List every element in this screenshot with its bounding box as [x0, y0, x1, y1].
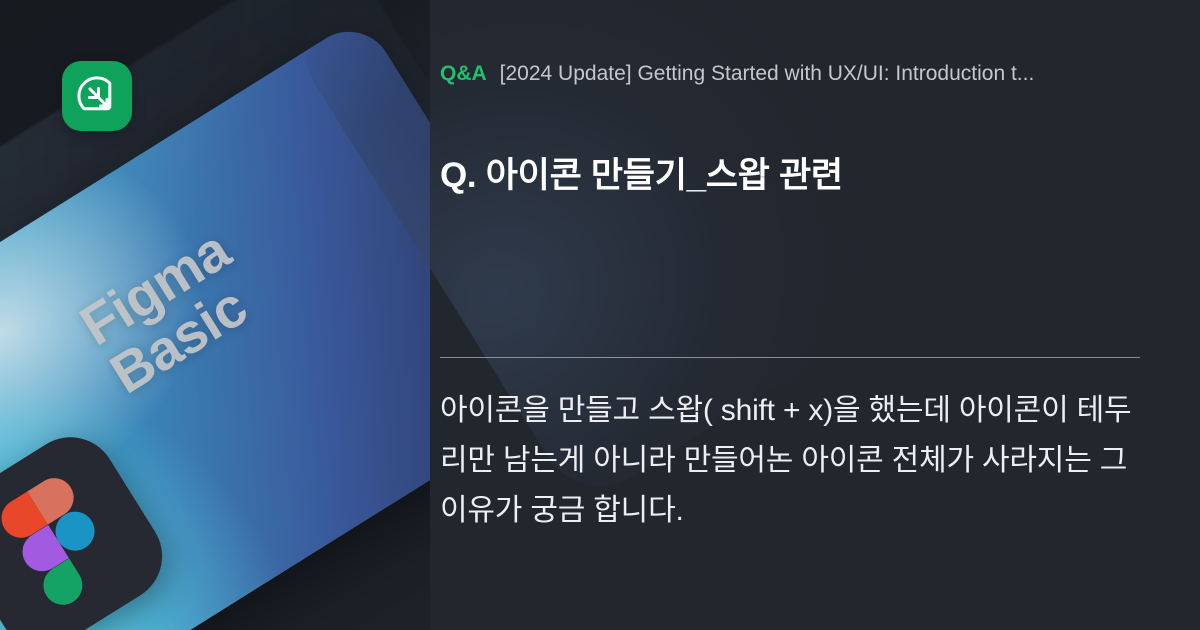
- leaf-pin-icon: [76, 75, 118, 117]
- page-title: Q. 아이콘 만들기_스왑 관련: [440, 147, 1140, 198]
- site-logo[interactable]: [62, 61, 132, 131]
- breadcrumb: Q&A [2024 Update] Getting Started with U…: [440, 62, 1140, 86]
- question-body: 아이콘을 만들고 스왑( shift + x)을 했는데 아이콘이 테두리만 남…: [440, 386, 1146, 536]
- course-card-wordmark: Figma Basic: [71, 147, 386, 403]
- qa-badge: Q&A: [440, 62, 487, 86]
- divider: [440, 357, 1140, 358]
- figma-logo-icon: [0, 471, 123, 612]
- og-preview-card: Figma Basic: [0, 0, 1200, 630]
- content-column: Q&A [2024 Update] Getting Started with U…: [440, 0, 1140, 630]
- course-title-link[interactable]: [2024 Update] Getting Started with UX/UI…: [500, 62, 1035, 86]
- figma-app-icon: [0, 420, 179, 630]
